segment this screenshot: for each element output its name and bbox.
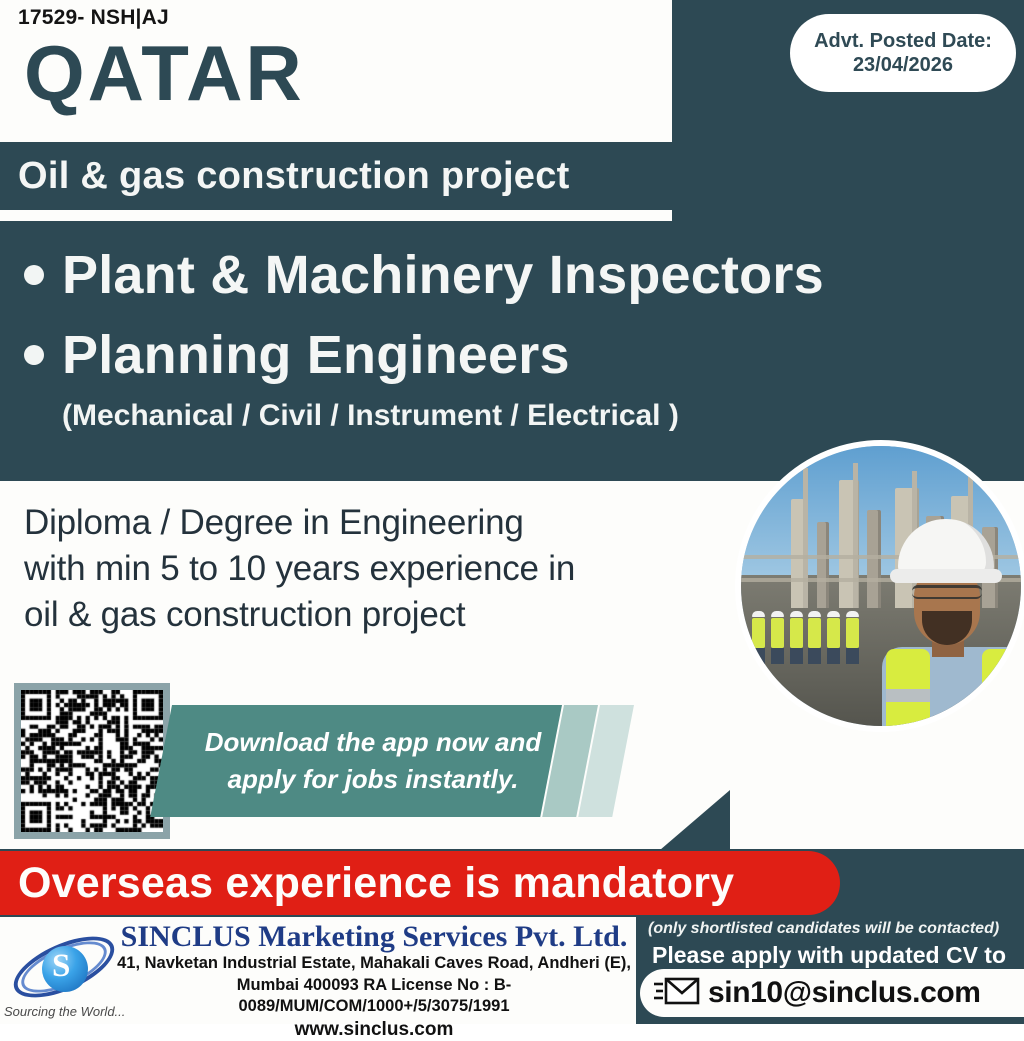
- app-promo-banner: Download the app now and apply for jobs …: [172, 705, 672, 817]
- qualification-text: Diploma / Degree in Engineering with min…: [24, 500, 714, 639]
- company-address-line-2: Mumbai 400093 RA License No : B-0089/MUM…: [112, 975, 636, 1018]
- disciplines-text: (Mechanical / Civil / Instrument / Elect…: [62, 399, 679, 433]
- mandatory-banner-text: Overseas experience is mandatory: [0, 859, 734, 908]
- worker-crowd: [747, 603, 881, 665]
- envelope-icon: [654, 974, 700, 1013]
- app-promo-text: Download the app now and apply for jobs …: [172, 705, 574, 817]
- job-advertisement-poster: 17529- NSH|AJ Advt. Posted Date: 23/04/2…: [0, 0, 1024, 1024]
- company-website[interactable]: www.sinclus.com: [112, 1019, 636, 1041]
- company-name: SINCLUS Marketing Services Pvt. Ltd.: [112, 921, 636, 953]
- bullet-icon: [24, 345, 44, 365]
- posted-date-badge: Advt. Posted Date: 23/04/2026: [790, 14, 1016, 92]
- role-label: Plant & Machinery Inspectors: [62, 244, 824, 306]
- project-type-band: Oil & gas construction project: [0, 142, 672, 210]
- company-tagline: Sourcing the World...: [4, 1004, 125, 1019]
- qualification-line-1: Diploma / Degree in Engineering: [24, 500, 714, 546]
- apply-instruction: Please apply with updated CV to: [652, 942, 1024, 969]
- role-item: Planning Engineers: [0, 324, 570, 386]
- email-contact[interactable]: sin10@sinclus.com: [640, 969, 1024, 1017]
- qualification-line-3: oil & gas construction project: [24, 592, 714, 638]
- qualification-line-2: with min 5 to 10 years experience in: [24, 546, 714, 592]
- email-address[interactable]: sin10@sinclus.com: [708, 976, 981, 1010]
- app-promo-line-2: apply for jobs instantly.: [228, 761, 519, 798]
- role-item: Plant & Machinery Inspectors: [0, 244, 824, 306]
- safety-glasses-icon: [912, 585, 982, 599]
- role-label: Planning Engineers: [62, 324, 570, 386]
- company-address-line-1: 41, Navketan Industrial Estate, Mahakali…: [112, 953, 636, 974]
- tablet-device: [919, 728, 1004, 732]
- bullet-icon: [24, 265, 44, 285]
- company-logo: S: [8, 928, 120, 1006]
- country-title: QATAR: [24, 34, 305, 112]
- reference-code: 17529- NSH|AJ: [18, 6, 169, 30]
- project-type-text: Oil & gas construction project: [0, 155, 570, 198]
- app-promo-line-1: Download the app now and: [205, 724, 542, 761]
- foreground-engineer: [870, 519, 1021, 726]
- engineer-photo: [735, 440, 1024, 732]
- posted-date-value: 23/04/2026: [853, 53, 953, 77]
- posted-date-label: Advt. Posted Date:: [814, 29, 992, 53]
- band-underline-spacer: [0, 210, 672, 221]
- company-details: SINCLUS Marketing Services Pvt. Ltd. 41,…: [112, 921, 636, 1041]
- logo-letter: S: [52, 950, 70, 983]
- shortlist-note: (only shortlisted candidates will be con…: [648, 920, 1024, 938]
- mandatory-banner: Overseas experience is mandatory: [0, 851, 840, 915]
- qr-code[interactable]: [14, 683, 170, 839]
